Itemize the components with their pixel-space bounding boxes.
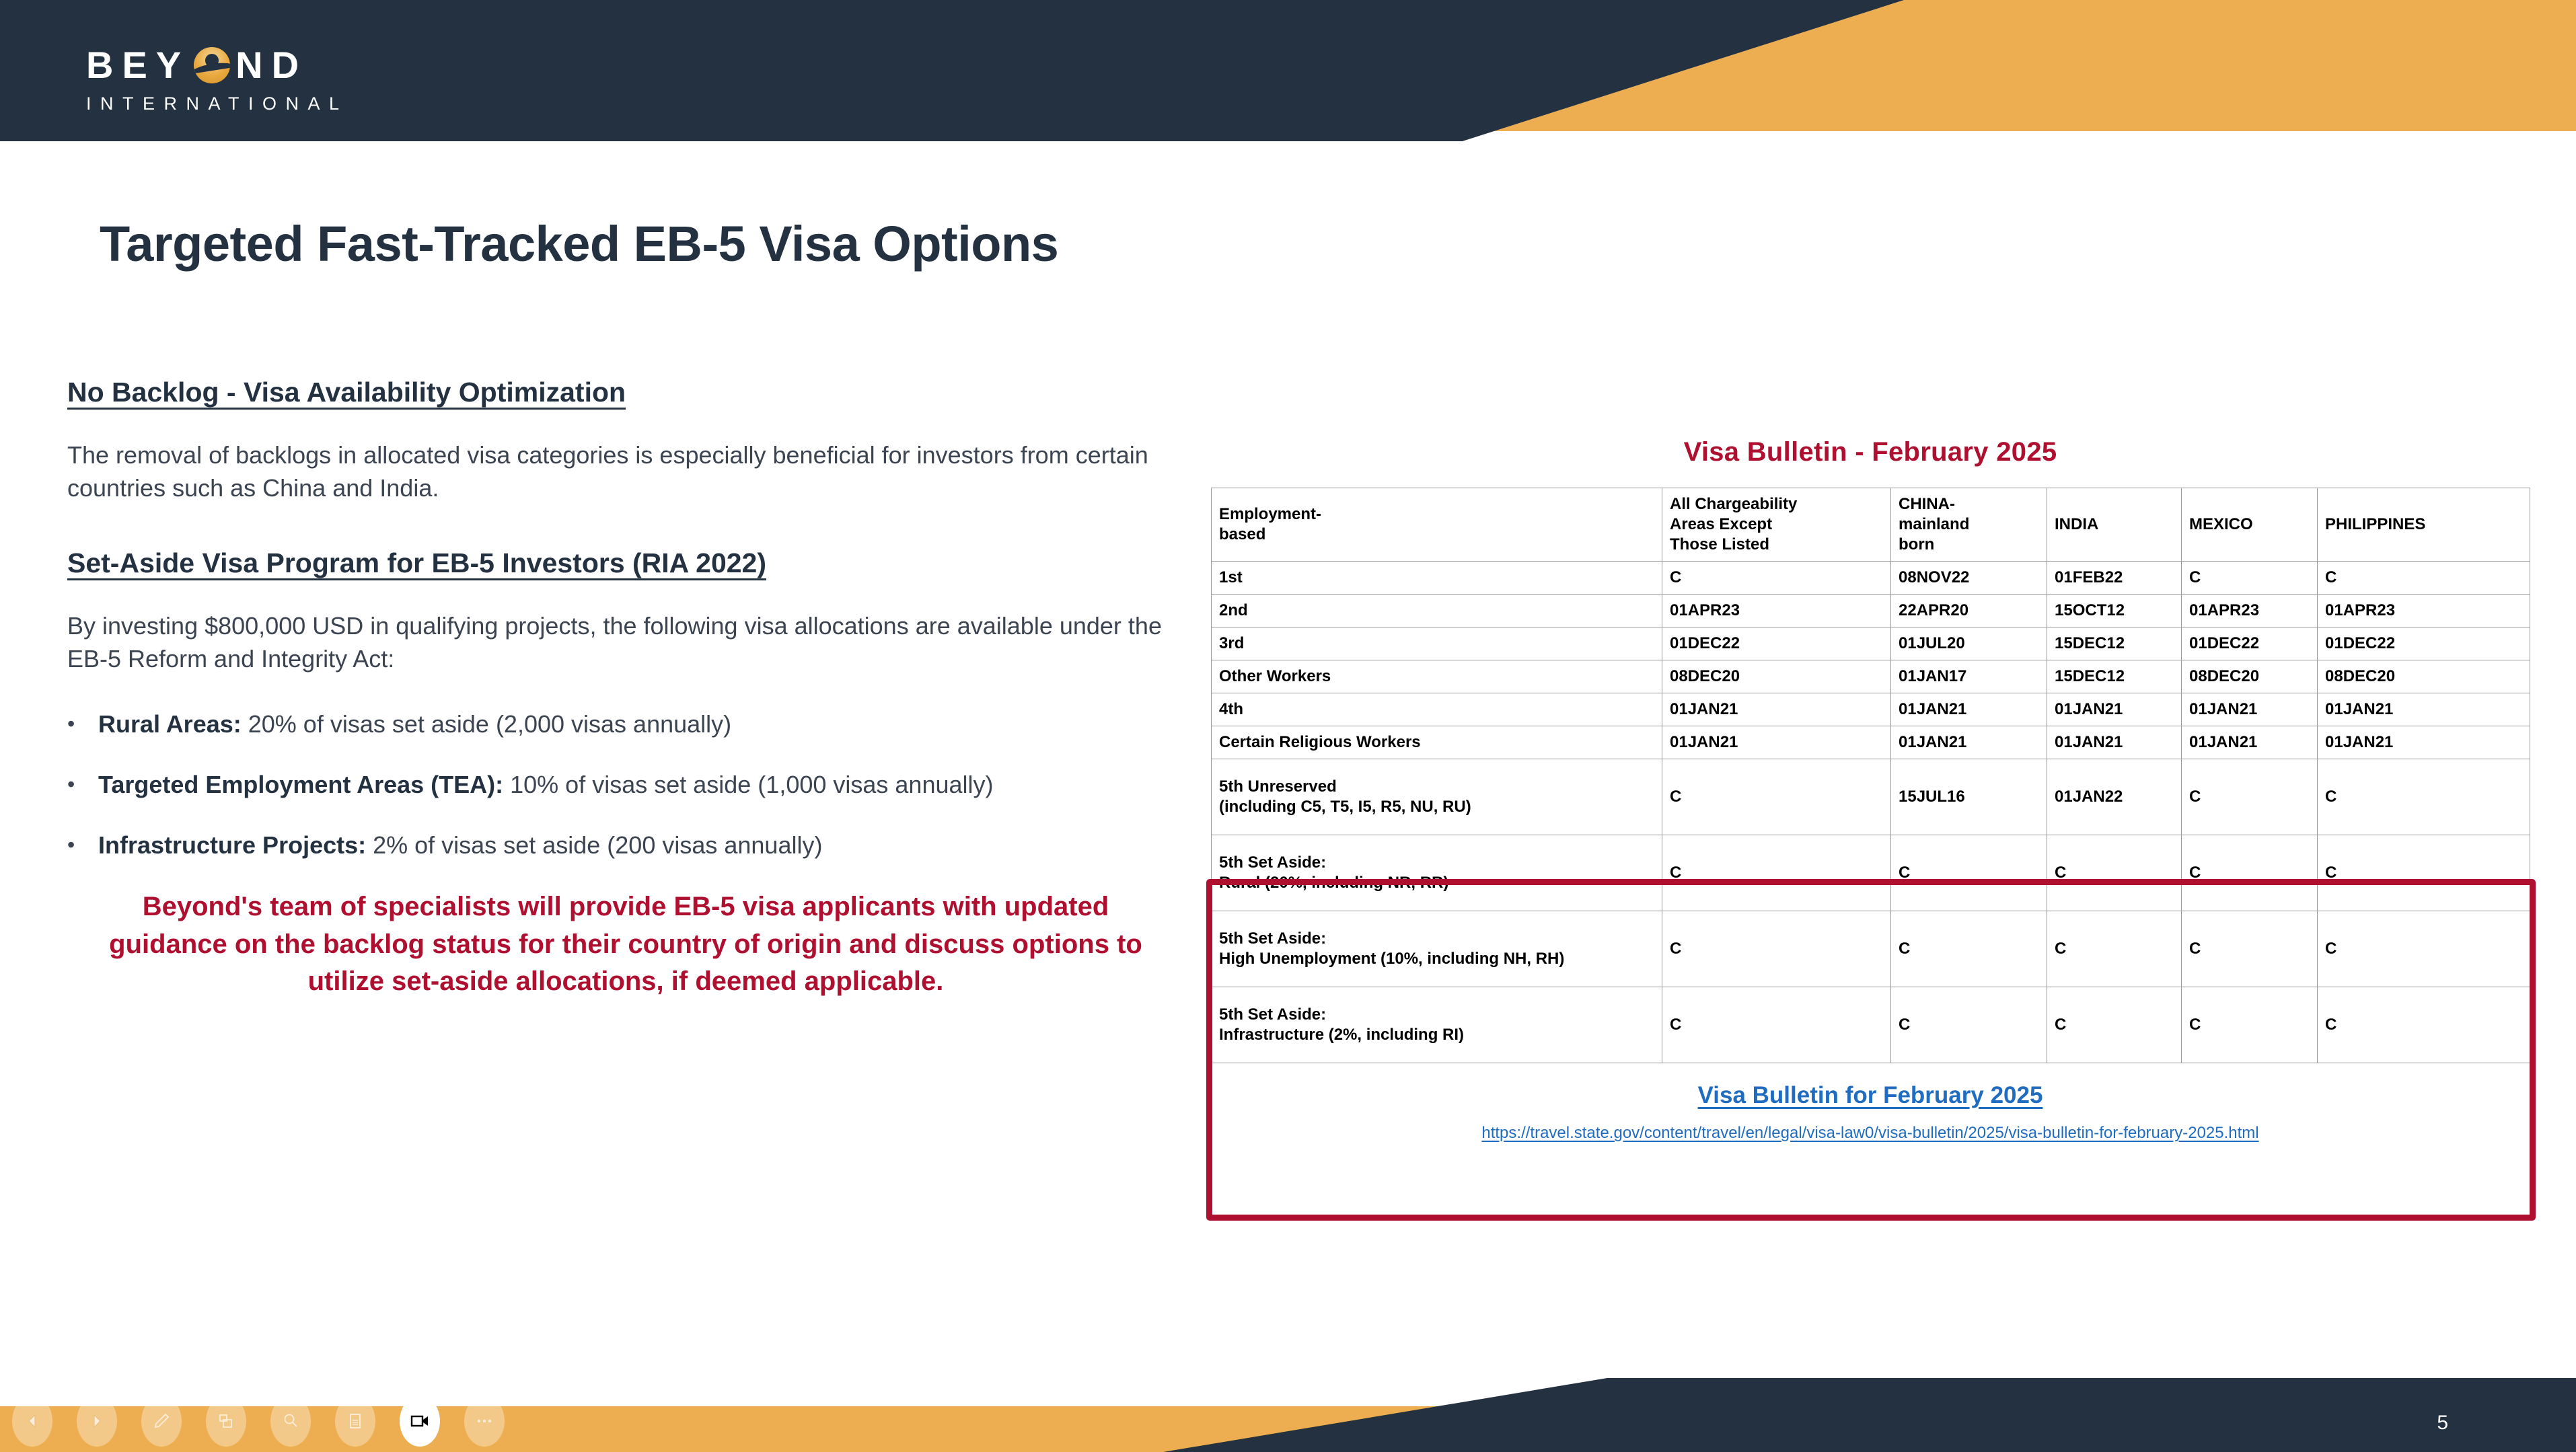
cell-china: 15JUL16 [1891,759,2047,835]
cell-india: 01JAN22 [2047,759,2182,835]
table-row: 2nd 01APR23 22APR20 15OCT12 01APR23 01AP… [1212,595,2530,627]
cell-mexico: 08DEC20 [2182,660,2318,693]
bullet-point-icon: • [67,829,98,862]
cell-mexico: C [2182,987,2318,1063]
row-category: 5th Unreserved (including C5, T5, I5, R5… [1212,759,1662,835]
cell-china: 01JAN21 [1891,726,2047,759]
table-header: Employment- based All Chargeability Area… [1212,488,2530,562]
cell-china: C [1891,911,2047,987]
previous-slide-icon [24,1412,41,1430]
callout-text: Beyond's team of specialists will provid… [67,888,1198,1000]
magnifier-icon [281,1412,300,1430]
row-category: 5th Set Aside: Rural (20%, including NR,… [1212,835,1662,911]
zoom-tool-button[interactable] [270,1396,311,1447]
notes-icon [346,1412,365,1430]
cell-all: 01DEC22 [1662,627,1891,660]
next-slide-button[interactable] [77,1396,117,1447]
row-category: 4th [1212,693,1662,726]
list-item: • Infrastructure Projects: 2% of visas s… [67,829,1198,862]
page-number: 5 [2437,1412,2448,1435]
visa-bulletin-table: Employment- based All Chargeability Area… [1211,488,2530,1063]
list-item-text: Infrastructure Projects: 2% of visas set… [98,829,1198,862]
bullet-point-icon: • [67,708,98,741]
cell-all: C [1662,759,1891,835]
notes-button[interactable] [335,1396,375,1447]
cell-india: 15OCT12 [2047,595,2182,627]
slide-header: BEY ND INTERNATIONAL [0,0,2576,141]
visa-bulletin-link[interactable]: Visa Bulletin for February 2025 [1698,1082,2043,1109]
list-item-text: Rural Areas: 20% of visas set aside (2,0… [98,708,1198,741]
cell-philippines: 01APR23 [2318,595,2530,627]
cell-china: 08NOV22 [1891,562,2047,595]
logo-subtext: INTERNATIONAL [86,95,396,113]
cell-all: C [1662,911,1891,987]
ellipsis-icon [475,1418,494,1424]
table-row-highlighted: 5th Unreserved (including C5, T5, I5, R5… [1212,759,2530,835]
list-item: • Targeted Employment Areas (TEA): 10% o… [67,768,1198,802]
table-row: 1st C 08NOV22 01FEB22 C C [1212,562,2530,595]
cell-all: C [1662,562,1891,595]
cell-philippines: C [2318,835,2530,911]
set-aside-bullet-list: • Rural Areas: 20% of visas set aside (2… [67,708,1198,862]
table-body: 1st C 08NOV22 01FEB22 C C 2nd 01APR23 22… [1212,562,2530,1063]
cell-india: C [2047,835,2182,911]
paragraph-no-backlog: The removal of backlogs in allocated vis… [67,439,1198,504]
table-row: Other Workers 08DEC20 01JAN17 15DEC12 08… [1212,660,2530,693]
cell-india: C [2047,987,2182,1063]
video-camera-icon [410,1412,430,1430]
previous-slide-button[interactable] [12,1396,52,1447]
record-video-button[interactable] [400,1396,440,1447]
row-category: 2nd [1212,595,1662,627]
cell-philippines: C [2318,911,2530,987]
cell-all: 01JAN21 [1662,726,1891,759]
cell-mexico: C [2182,759,2318,835]
logo-text-bey: BEY [86,46,190,84]
cell-all: C [1662,835,1891,911]
list-item: • Rural Areas: 20% of visas set aside (2… [67,708,1198,741]
table-row: 3rd 01DEC22 01JUL20 15DEC12 01DEC22 01DE… [1212,627,2530,660]
logo-text-nd: ND [235,46,307,84]
row-category: Certain Religious Workers [1212,726,1662,759]
cell-philippines: 01JAN21 [2318,693,2530,726]
row-category: 5th Set Aside: High Unemployment (10%, i… [1212,911,1662,987]
row-category: Other Workers [1212,660,1662,693]
pen-tool-button[interactable] [141,1396,182,1447]
table-header-row: Employment- based All Chargeability Area… [1212,488,2530,562]
section-heading-no-backlog: No Backlog - Visa Availability Optimizat… [67,377,1198,408]
row-category: 5th Set Aside: Infrastructure (2%, inclu… [1212,987,1662,1063]
cell-india: 01FEB22 [2047,562,2182,595]
cell-mexico: 01JAN21 [2182,726,2318,759]
cell-china: C [1891,835,2047,911]
visa-bulletin-url[interactable]: https://travel.state.gov/content/travel/… [1481,1124,2258,1143]
cell-china: 01JAN21 [1891,693,2047,726]
cell-philippines: 08DEC20 [2318,660,2530,693]
cell-mexico: C [2182,835,2318,911]
column-header-mexico: MEXICO [2182,488,2318,562]
eraser-icon [217,1412,235,1430]
table-row-highlighted: 5th Set Aside: High Unemployment (10%, i… [1212,911,2530,987]
column-header-all-chargeability: All Chargeability Areas Except Those Lis… [1662,488,1891,562]
cell-mexico: 01DEC22 [2182,627,2318,660]
cell-china: 01JUL20 [1891,627,2047,660]
row-category: 1st [1212,562,1662,595]
table-row: Certain Religious Workers 01JAN21 01JAN2… [1212,726,2530,759]
cell-philippines: C [2318,562,2530,595]
eraser-tool-button[interactable] [206,1396,246,1447]
paragraph-set-aside: By investing $800,000 USD in qualifying … [67,610,1198,675]
list-item-text: Targeted Employment Areas (TEA): 10% of … [98,768,1198,802]
list-item-label: Infrastructure Projects: [98,831,366,859]
table-row-highlighted: 5th Set Aside: Rural (20%, including NR,… [1212,835,2530,911]
right-content-column: Visa Bulletin - February 2025 Employment… [1211,437,2530,1143]
cell-all: 01APR23 [1662,595,1891,627]
column-header-china: CHINA- mainland born [1891,488,2047,562]
row-category: 3rd [1212,627,1662,660]
cell-china: 01JAN17 [1891,660,2047,693]
cell-mexico: 01APR23 [2182,595,2318,627]
next-slide-icon [88,1412,106,1430]
bullet-point-icon: • [67,768,98,802]
section-heading-set-aside: Set-Aside Visa Program for EB-5 Investor… [67,547,1198,579]
visa-bulletin-title: Visa Bulletin - February 2025 [1211,437,2530,467]
cell-all: 08DEC20 [1662,660,1891,693]
table-row-highlighted: 5th Set Aside: Infrastructure (2%, inclu… [1212,987,2530,1063]
cell-india: C [2047,911,2182,987]
list-item-detail: 10% of visas set aside (1,000 visas annu… [503,771,993,798]
list-item-label: Rural Areas: [98,710,242,738]
sunrise-circle-icon [194,47,230,83]
cell-china: C [1891,987,2047,1063]
table-row: 4th 01JAN21 01JAN21 01JAN21 01JAN21 01JA… [1212,693,2530,726]
cell-mexico: 01JAN21 [2182,693,2318,726]
cell-india: 01JAN21 [2047,693,2182,726]
cell-india: 01JAN21 [2047,726,2182,759]
cell-india: 15DEC12 [2047,660,2182,693]
list-item-label: Targeted Employment Areas (TEA): [98,771,503,798]
cell-philippines: 01JAN21 [2318,726,2530,759]
cell-mexico: C [2182,562,2318,595]
column-header-philippines: PHILIPPINES [2318,488,2530,562]
left-content-column: No Backlog - Visa Availability Optimizat… [67,377,1198,1000]
source-links: Visa Bulletin for February 2025 https://… [1211,1082,2530,1143]
cell-mexico: C [2182,911,2318,987]
list-item-detail: 20% of visas set aside (2,000 visas annu… [242,710,731,738]
cell-philippines: 01DEC22 [2318,627,2530,660]
column-header-india: INDIA [2047,488,2182,562]
list-item-detail: 2% of visas set aside (200 visas annuall… [366,831,822,859]
column-header-category: Employment- based [1212,488,1662,562]
more-options-button[interactable] [464,1396,505,1447]
cell-all: C [1662,987,1891,1063]
logo-wordmark: BEY ND [86,46,396,84]
cell-india: 15DEC12 [2047,627,2182,660]
cell-all: 01JAN21 [1662,693,1891,726]
brand-logo: BEY ND INTERNATIONAL [86,39,396,120]
page-title: Targeted Fast-Tracked EB-5 Visa Options [100,215,1058,272]
cell-china: 22APR20 [1891,595,2047,627]
pen-icon [152,1412,171,1430]
cell-philippines: C [2318,987,2530,1063]
presentation-toolbar[interactable] [12,1396,505,1447]
cell-philippines: C [2318,759,2530,835]
